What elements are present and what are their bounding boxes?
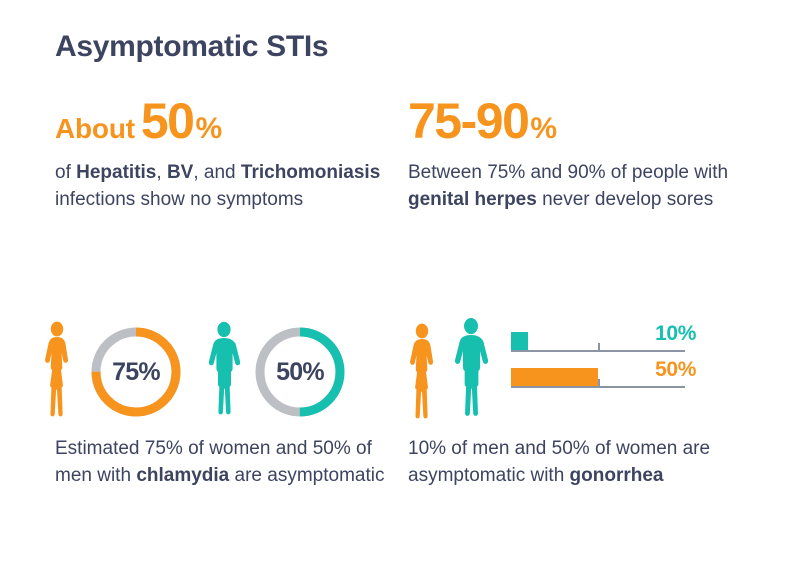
- stat-headline: About50%: [55, 96, 395, 146]
- male-figure-icon: [449, 316, 493, 426]
- stat-percent-sign: %: [530, 112, 556, 145]
- stat-percent-sign: %: [195, 112, 221, 145]
- bar-axis: [511, 386, 685, 388]
- stat-block-herpes: 75-90% Between 75% and 90% of people wit…: [408, 96, 768, 214]
- figures-pair: [405, 312, 493, 426]
- chart-chlamydia-donuts: 75% 50%: [40, 312, 390, 432]
- bar-track: [511, 364, 685, 388]
- bar-group-women: 50%: [511, 364, 696, 400]
- stat-number: 75-90: [408, 93, 528, 149]
- bar-axis: [511, 350, 685, 352]
- bar-track: [511, 328, 685, 352]
- female-figure-icon: [40, 320, 74, 424]
- bars-area: 10% 50%: [511, 312, 696, 400]
- stat-block-hepatitis: About50% of Hepatitis, BV, and Trichomon…: [55, 96, 395, 214]
- donut-women-label: 75%: [88, 324, 184, 420]
- infographic-page: Asymptomatic STIs About50% of Hepatitis,…: [0, 0, 803, 568]
- donut-women: 75%: [88, 324, 184, 420]
- bar-fill-women: [511, 368, 598, 388]
- caption-chlamydia: Estimated 75% of women and 50% of men wi…: [55, 436, 385, 490]
- female-figure-icon: [405, 322, 439, 426]
- donut-men-label: 50%: [252, 324, 348, 420]
- stat-number: 50: [141, 93, 194, 149]
- donut-row: 75% 50%: [40, 312, 390, 432]
- caption-gonorrhea: 10% of men and 50% of women are asymptom…: [408, 436, 778, 490]
- stat-prefix-label: About: [55, 113, 135, 144]
- stat-body-text: of Hepatitis, BV, and Trichomoniasis inf…: [55, 160, 395, 214]
- male-figure-icon: [204, 320, 244, 424]
- bars-row: 10% 50%: [405, 312, 765, 426]
- page-title: Asymptomatic STIs: [55, 30, 328, 64]
- donut-men: 50%: [252, 324, 348, 420]
- stat-body-text: Between 75% and 90% of people with genit…: [408, 160, 768, 214]
- chart-gonorrhea-bars: 10% 50%: [405, 312, 765, 432]
- bar-fill-men: [511, 332, 528, 352]
- stat-headline: 75-90%: [408, 96, 768, 146]
